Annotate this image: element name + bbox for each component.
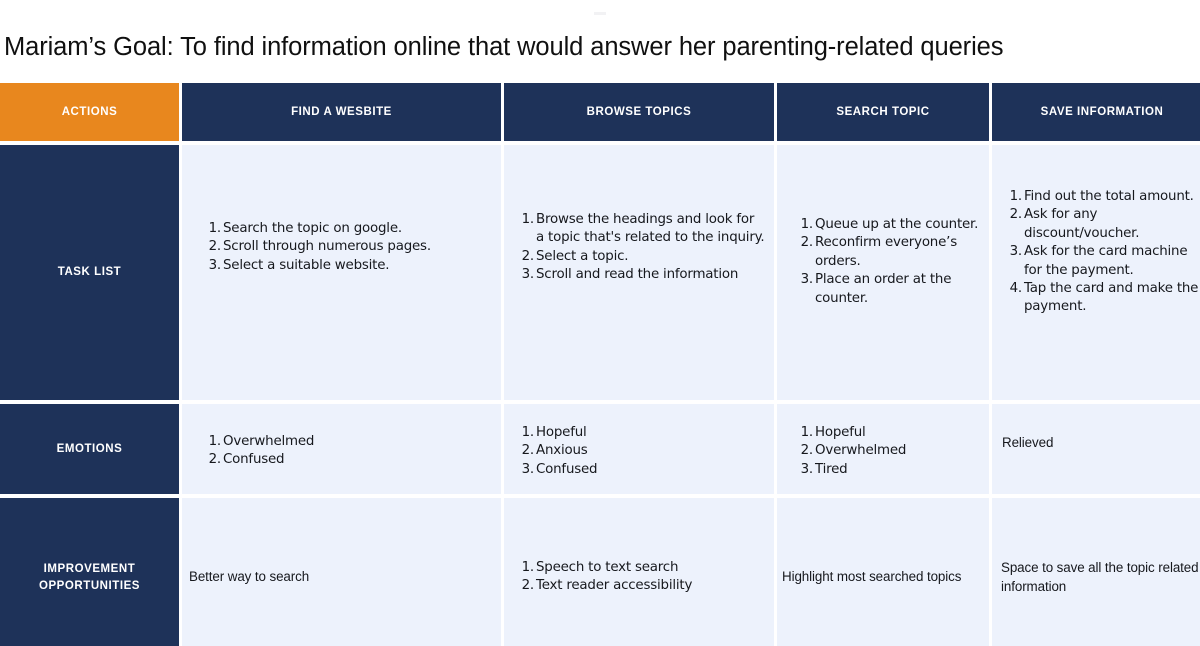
cell-emotions-save-information: Relieved bbox=[992, 404, 1200, 494]
list-item: 2.Select a topic. bbox=[516, 248, 766, 266]
row-label-improvement-opportunities: IMPROVEMENT OPPORTUNITIES bbox=[0, 498, 179, 646]
list-item: 3.Place an order at the counter. bbox=[795, 271, 981, 308]
list-item-text: Hopeful bbox=[815, 425, 866, 440]
cell-emotions-find-a-website: 1.Overwhelmed 2.Confused bbox=[182, 404, 501, 494]
list-item-text: Anxious bbox=[536, 443, 588, 458]
list-item-text: Confused bbox=[223, 452, 284, 467]
cell-task-list-save-information: 1.Find out the total amount. 2.Ask for a… bbox=[992, 145, 1200, 400]
emotions-list: 1.Hopeful 2.Overwhelmed 3.Tired bbox=[795, 424, 983, 479]
list-number: 1. bbox=[203, 220, 221, 238]
header-stage-search-topic: SEARCH TOPIC bbox=[777, 83, 989, 141]
list-number: 1. bbox=[1004, 188, 1022, 206]
list-number: 1. bbox=[516, 424, 534, 442]
list-item: 3.Select a suitable website. bbox=[203, 257, 491, 275]
list-item: 1.Speech to text search bbox=[516, 559, 766, 577]
list-item: 3.Scroll and read the information bbox=[516, 266, 766, 284]
list-number: 2. bbox=[516, 442, 534, 460]
list-item-text: Browse the headings and look for a topic… bbox=[536, 212, 765, 245]
cell-emotions-browse-topics: 1.Hopeful 2.Anxious 3.Confused bbox=[504, 404, 774, 494]
list-item: 1.Queue up at the counter. bbox=[795, 216, 981, 234]
cell-text: Relieved bbox=[1002, 434, 1200, 453]
list-item-text: Ask for the card machine for the payment… bbox=[1024, 244, 1187, 277]
list-item-text: Text reader accessibility bbox=[536, 578, 692, 593]
list-item: 1.Hopeful bbox=[795, 424, 983, 442]
list-number: 1. bbox=[516, 559, 534, 577]
task-list: 1.Queue up at the counter. 2.Reconfirm e… bbox=[795, 216, 981, 308]
list-number: 1. bbox=[795, 424, 813, 442]
header-stage-label: BROWSE TOPICS bbox=[587, 106, 692, 118]
list-number: 3. bbox=[795, 271, 813, 289]
list-number: 1. bbox=[516, 211, 534, 229]
header-actions-label: ACTIONS bbox=[62, 106, 118, 118]
list-number: 1. bbox=[795, 216, 813, 234]
cell-improvement-browse-topics: 1.Speech to text search 2.Text reader ac… bbox=[504, 498, 774, 646]
header-stage-browse-topics: BROWSE TOPICS bbox=[504, 83, 774, 141]
journey-map-table: ACTIONS FIND A WESBITE BROWSE TOPICS SEA… bbox=[0, 83, 1200, 646]
cell-text: Space to save all the topic related info… bbox=[1001, 559, 1200, 596]
list-item: 2.Overwhelmed bbox=[795, 442, 983, 460]
list-item: 2.Ask for any discount/voucher. bbox=[1004, 206, 1200, 243]
list-item: 3.Tired bbox=[795, 461, 983, 479]
list-item: 2.Reconfirm everyone’s orders. bbox=[795, 234, 981, 271]
task-list: 1.Browse the headings and look for a top… bbox=[516, 211, 766, 285]
header-actions: ACTIONS bbox=[0, 83, 179, 141]
list-item: 1.Overwhelmed bbox=[203, 433, 491, 451]
list-number: 2. bbox=[795, 442, 813, 460]
task-list: 1.Search the topic on google. 2.Scroll t… bbox=[203, 220, 491, 275]
row-label-text: TASK LIST bbox=[58, 264, 122, 281]
cell-task-list-browse-topics: 1.Browse the headings and look for a top… bbox=[504, 145, 774, 400]
cell-improvement-save-information: Space to save all the topic related info… bbox=[992, 498, 1200, 646]
list-item: 2.Scroll through numerous pages. bbox=[203, 238, 491, 256]
list-item-text: Place an order at the counter. bbox=[815, 272, 951, 305]
list-number: 2. bbox=[516, 248, 534, 266]
list-item-text: Select a topic. bbox=[536, 249, 628, 264]
list-item: 2.Confused bbox=[203, 451, 491, 469]
cell-improvement-search-topic: Highlight most searched topics bbox=[777, 498, 989, 646]
list-item-text: Tired bbox=[815, 462, 847, 477]
list-number: 3. bbox=[1004, 243, 1022, 261]
list-item: 1.Hopeful bbox=[516, 424, 766, 442]
list-item-text: Overwhelmed bbox=[815, 443, 906, 458]
emotions-list: 1.Hopeful 2.Anxious 3.Confused bbox=[516, 424, 766, 479]
header-stage-save-information: SAVE INFORMATION bbox=[992, 83, 1200, 141]
list-item-text: Hopeful bbox=[536, 425, 587, 440]
list-item-text: Tap the card and make the payment. bbox=[1024, 281, 1198, 314]
list-number: 3. bbox=[516, 266, 534, 284]
journey-map-page: Mariam’s Goal: To find information onlin… bbox=[0, 0, 1200, 646]
improvement-list: 1.Speech to text search 2.Text reader ac… bbox=[516, 559, 766, 596]
cell-emotions-search-topic: 1.Hopeful 2.Overwhelmed 3.Tired bbox=[777, 404, 989, 494]
cell-text: Better way to search bbox=[189, 568, 491, 587]
header-stage-label: SAVE INFORMATION bbox=[1041, 106, 1164, 118]
list-number: 1. bbox=[203, 433, 221, 451]
list-item-text: Search the topic on google. bbox=[223, 221, 402, 236]
list-item: 2.Anxious bbox=[516, 442, 766, 460]
list-item-text: Select a suitable website. bbox=[223, 258, 389, 273]
list-item: 2.Text reader accessibility bbox=[516, 577, 766, 595]
page-title: Mariam’s Goal: To find information onlin… bbox=[4, 30, 1194, 64]
list-number: 2. bbox=[1004, 206, 1022, 224]
cell-task-list-search-topic: 1.Queue up at the counter. 2.Reconfirm e… bbox=[777, 145, 989, 400]
list-item-text: Overwhelmed bbox=[223, 434, 314, 449]
list-item-text: Scroll through numerous pages. bbox=[223, 239, 431, 254]
row-label-task-list: TASK LIST bbox=[0, 145, 179, 400]
cell-text: Highlight most searched topics bbox=[782, 568, 983, 587]
list-item: 1.Search the topic on google. bbox=[203, 220, 491, 238]
list-item: 4.Tap the card and make the payment. bbox=[1004, 280, 1200, 317]
header-stage-find-a-website: FIND A WESBITE bbox=[182, 83, 501, 141]
header-stage-label: SEARCH TOPIC bbox=[836, 106, 929, 118]
header-stage-label: FIND A WESBITE bbox=[291, 106, 392, 118]
task-list: 1.Find out the total amount. 2.Ask for a… bbox=[1004, 188, 1200, 317]
list-number: 3. bbox=[795, 461, 813, 479]
row-label-emotions: EMOTIONS bbox=[0, 404, 179, 494]
list-item-text: Confused bbox=[536, 462, 597, 477]
list-item-text: Queue up at the counter. bbox=[815, 217, 978, 232]
row-label-text: EMOTIONS bbox=[57, 441, 123, 458]
list-number: 4. bbox=[1004, 280, 1022, 298]
list-number: 3. bbox=[203, 257, 221, 275]
emotions-list: 1.Overwhelmed 2.Confused bbox=[203, 433, 491, 470]
cell-task-list-find-a-website: 1.Search the topic on google. 2.Scroll t… bbox=[182, 145, 501, 400]
list-number: 3. bbox=[516, 461, 534, 479]
list-item: 3.Confused bbox=[516, 461, 766, 479]
list-item: 3.Ask for the card machine for the payme… bbox=[1004, 243, 1200, 280]
list-item-text: Ask for any discount/voucher. bbox=[1024, 207, 1139, 240]
list-number: 2. bbox=[203, 451, 221, 469]
list-item-text: Speech to text search bbox=[536, 560, 678, 575]
list-item-text: Scroll and read the information bbox=[536, 267, 738, 282]
cell-improvement-find-a-website: Better way to search bbox=[182, 498, 501, 646]
top-artifact bbox=[594, 12, 606, 15]
list-item: 1.Find out the total amount. bbox=[1004, 188, 1200, 206]
list-number: 2. bbox=[516, 577, 534, 595]
list-item-text: Reconfirm everyone’s orders. bbox=[815, 235, 957, 268]
list-number: 2. bbox=[795, 234, 813, 252]
row-label-text: IMPROVEMENT OPPORTUNITIES bbox=[8, 561, 171, 595]
list-item-text: Find out the total amount. bbox=[1024, 189, 1194, 204]
list-item: 1.Browse the headings and look for a top… bbox=[516, 211, 766, 248]
list-number: 2. bbox=[203, 238, 221, 256]
